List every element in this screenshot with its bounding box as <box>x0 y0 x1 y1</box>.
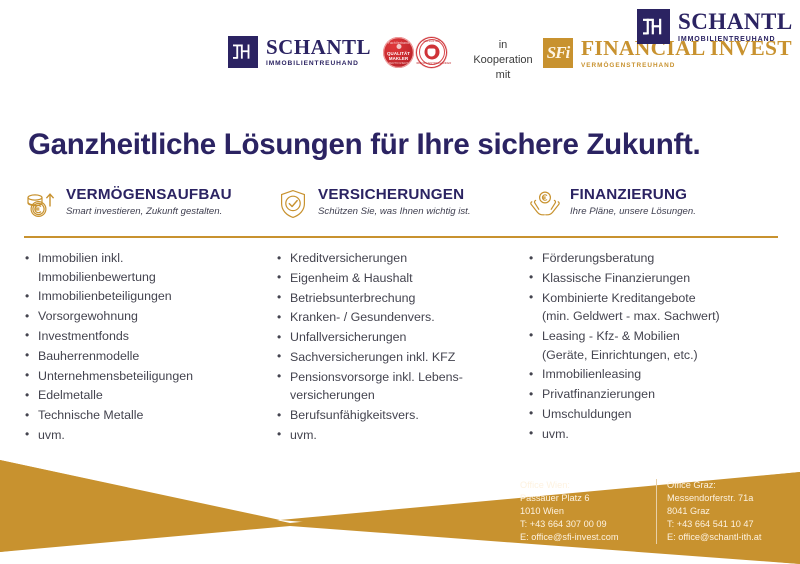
list-item: Unfallversicherungen <box>276 328 516 347</box>
list-item: Pensionsvorsorge inkl. Lebens-versicheru… <box>276 368 516 405</box>
column-title: FINANZIERUNG <box>570 186 696 204</box>
office-street: Messendorferstr. 71a <box>667 492 790 505</box>
poster-canvas: SCHANTL IMMOBILIENTREUHAND FachVerband Q… <box>0 0 800 564</box>
coins-euro-growth-icon <box>24 187 58 221</box>
list-item: Immobilien inkl.Immobilienbewertung <box>24 249 264 286</box>
schantl-logo-topright[interactable]: SCHANTL IMMOBILIENTREUHAND <box>637 9 793 44</box>
list-item: Privatfinanzierungen <box>528 385 768 404</box>
schantl-wordmark: SCHANTL IMMOBILIENTREUHAND <box>266 37 371 68</box>
column-subtitle: Ihre Pläne, unsere Lösungen. <box>570 205 696 218</box>
hands-holding-euro-icon <box>528 187 562 221</box>
list-item: Investmentfonds <box>24 327 264 346</box>
column-title: VERMÖGENSAUFBAU <box>66 186 232 204</box>
list-item: Immobilienbeteiligungen <box>24 287 264 306</box>
list-item: Edelmetalle <box>24 386 264 405</box>
gold-divider-rule <box>24 236 778 238</box>
office-city: 1010 Wien <box>520 505 654 518</box>
schantl-subtitle: IMMOBILIENTREUHAND <box>266 61 371 68</box>
office-city: 8041 Graz <box>667 505 790 518</box>
office-phone[interactable]: T: +43 664 307 00 09 <box>520 518 654 531</box>
seal-top-text: GEPRÜFTER <box>416 40 447 43</box>
schantl-wordmark: SCHANTL IMMOBILIENTREUHAND <box>678 10 793 43</box>
list-item: Sachversicherungen inkl. KFZ <box>276 348 516 367</box>
schantl-name: SCHANTL <box>266 37 371 58</box>
list-item: Kreditversicherungen <box>276 249 516 268</box>
seal-bottom-text: ZERTIFIZIERT <box>383 61 414 65</box>
list-finanzierung: Förderungsberatung Klassische Finanzieru… <box>528 249 780 446</box>
column-subtitle: Schützen Sie, was Ihnen wichtig ist. <box>318 205 471 218</box>
list-item: Leasing - Kfz- & Mobilien(Geräte, Einric… <box>528 327 768 364</box>
logo-bar: SCHANTL IMMOBILIENTREUHAND FachVerband Q… <box>0 0 800 108</box>
list-item: Vorsorgewohnung <box>24 307 264 326</box>
bullet-list: Immobilien inkl.Immobilienbewertung Immo… <box>24 249 264 444</box>
list-item: Kranken- / Gesundenvers. <box>276 308 516 327</box>
schantl-name: SCHANTL <box>678 10 793 33</box>
cooperation-note: in Kooperation mit <box>470 38 536 83</box>
column-versicherungen: VERSICHERUNGEN Schützen Sie, was Ihnen w… <box>276 186 528 232</box>
office-name: Office Graz: <box>667 479 790 492</box>
service-column-headers: VERMÖGENSAUFBAU Smart investieren, Zukun… <box>24 186 780 232</box>
list-item: Technische Metalle <box>24 406 264 425</box>
seal-bottom-text: IMMOBILIENTREUHÄNDER <box>416 62 447 65</box>
shield-check-icon <box>276 187 310 221</box>
office-phone[interactable]: T: +43 664 541 10 47 <box>667 518 790 531</box>
office-street: Passauer Platz 6 <box>520 492 654 505</box>
column-title: VERSICHERUNGEN <box>318 186 471 204</box>
seal-crest-icon <box>424 45 439 60</box>
qualitaets-makler-seal: FachVerband QUALITÄT MAKLER ZERTIFIZIERT <box>383 37 414 68</box>
immobilientreuhaender-seal: GEPRÜFTER IMMOBILIENTREUHÄNDER <box>416 37 447 68</box>
schantl-subtitle: IMMOBILIENTREUHAND <box>678 36 793 43</box>
list-item: Förderungsberatung <box>528 249 768 268</box>
office-graz-block: Office Graz: Messendorferstr. 71a 8041 G… <box>656 479 790 544</box>
seal-emblem-icon <box>396 44 401 49</box>
list-item: Betriebsunterbrechung <box>276 289 516 308</box>
cooperation-line-2: Kooperation <box>470 53 536 68</box>
column-finanzierung: FINANZIERUNG Ihre Pläne, unsere Lösungen… <box>528 186 780 232</box>
list-item: Klassische Finanzierungen <box>528 269 768 288</box>
certification-seals: FachVerband QUALITÄT MAKLER ZERTIFIZIERT… <box>383 37 447 68</box>
cooperation-line-1: in <box>470 38 536 53</box>
service-lists: Immobilien inkl.Immobilienbewertung Immo… <box>24 249 780 446</box>
footer-contact: Office Wien: Passauer Platz 6 1010 Wien … <box>520 479 790 544</box>
list-item: Immobilienleasing <box>528 365 768 384</box>
ith-monogram-icon <box>637 9 670 44</box>
list-vermoegensaufbau: Immobilien inkl.Immobilienbewertung Immo… <box>24 249 276 446</box>
list-item: Kombinierte Kreditangebote(min. Geldwert… <box>528 289 768 326</box>
bullet-list: Kreditversicherungen Eigenheim & Haushal… <box>276 249 516 444</box>
bullet-list: Förderungsberatung Klassische Finanzieru… <box>528 249 768 443</box>
column-subtitle: Smart investieren, Zukunft gestalten. <box>66 205 232 218</box>
schantl-logo-center[interactable]: SCHANTL IMMOBILIENTREUHAND FachVerband Q… <box>228 36 447 68</box>
list-item: Bauherrenmodelle <box>24 347 264 366</box>
list-item: Umschuldungen <box>528 405 768 424</box>
office-name: Office Wien: <box>520 479 654 492</box>
office-email[interactable]: E: office@schantl-ith.at <box>667 531 790 544</box>
ith-monogram-icon <box>228 36 258 68</box>
cooperation-line-3: mit <box>470 68 536 83</box>
list-item: Eigenheim & Haushalt <box>276 269 516 288</box>
sfi-monogram-icon: SFi <box>543 38 573 68</box>
office-email[interactable]: E: office@sfi-invest.com <box>520 531 654 544</box>
office-wien-block: Office Wien: Passauer Platz 6 1010 Wien … <box>520 479 654 544</box>
list-item: Unternehmensbeteiligungen <box>24 367 264 386</box>
list-versicherungen: Kreditversicherungen Eigenheim & Haushal… <box>276 249 528 446</box>
sfi-subtitle: VERMÖGENSTREUHAND <box>581 63 792 69</box>
column-vermoegensaufbau: VERMÖGENSAUFBAU Smart investieren, Zukun… <box>24 186 276 232</box>
list-item: Berufsunfähigkeitsvers. <box>276 406 516 425</box>
page-title: Ganzheitliche Lösungen für Ihre sichere … <box>28 128 778 162</box>
